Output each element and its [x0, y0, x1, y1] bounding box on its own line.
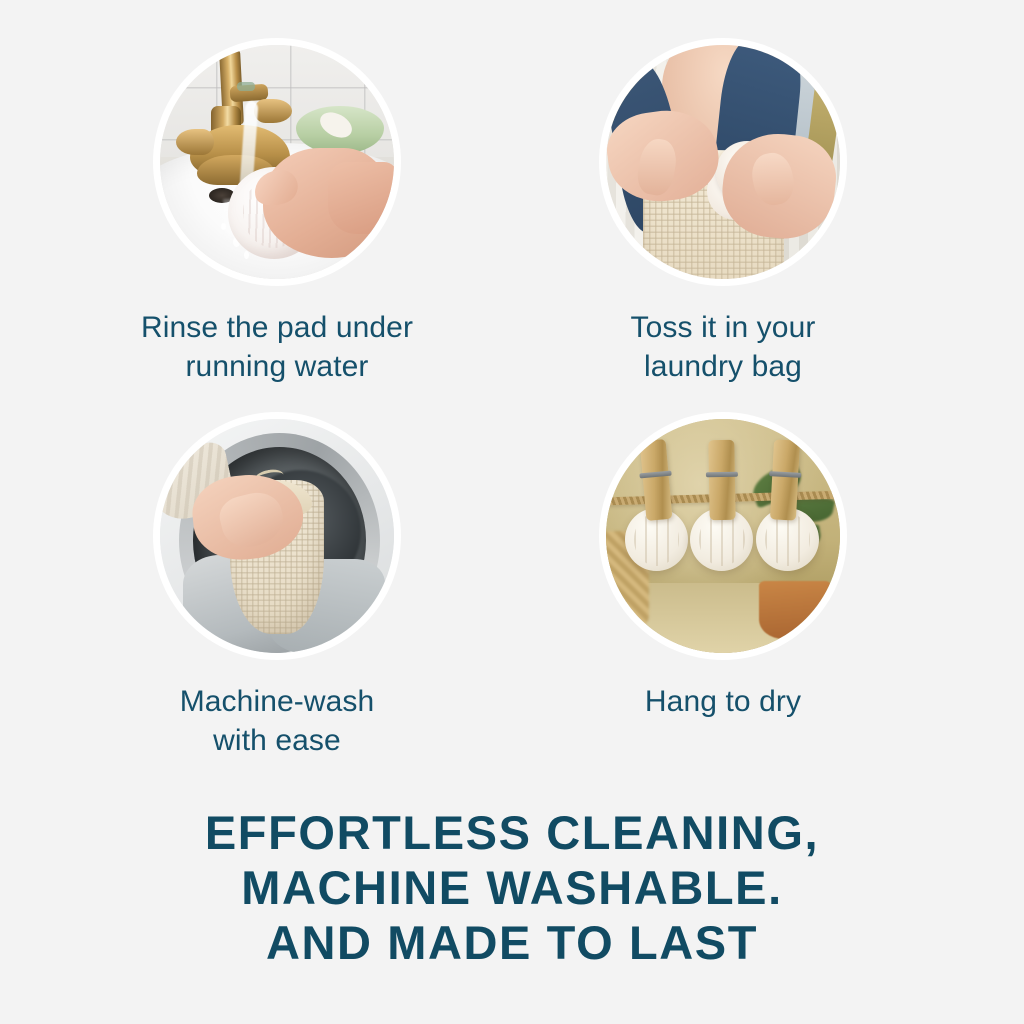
step-card-hang-dry: Hang to dry	[498, 412, 948, 721]
headline-line-2: MACHINE WASHABLE.	[0, 861, 1024, 916]
caption-line-1: Toss it in your	[631, 308, 816, 347]
step-card-toss: Toss it in your laundry bag	[498, 38, 948, 386]
caption-line-1: Hang to dry	[645, 682, 801, 721]
placing-pad-into-mesh-laundry-bag-photo	[606, 45, 840, 279]
caption-line-1: Machine-wash	[180, 682, 375, 721]
step-card-rinse: Rinse the pad under running water	[52, 38, 502, 386]
caption-line-2: running water	[141, 347, 413, 386]
photo-ring-machine-wash	[153, 412, 401, 660]
photo-ring-hang-dry	[599, 412, 847, 660]
step-caption-toss: Toss it in your laundry bag	[631, 308, 816, 386]
pads-hanging-on-clothesline-photo	[606, 419, 840, 653]
infographic-canvas: Rinse the pad under running water	[0, 0, 1024, 1024]
steps-grid: Rinse the pad under running water	[0, 0, 1024, 790]
headline-block: EFFORTLESS CLEANING, MACHINE WASHABLE. A…	[0, 806, 1024, 971]
rinsing-reusable-pad-under-brass-faucet-photo	[160, 45, 394, 279]
step-caption-machine-wash: Machine-wash with ease	[180, 682, 375, 760]
mesh-bag-into-washing-machine-photo	[160, 419, 394, 653]
headline-line-1: EFFORTLESS CLEANING,	[0, 806, 1024, 861]
caption-line-1: Rinse the pad under	[141, 308, 413, 347]
caption-line-2: with ease	[180, 721, 375, 760]
photo-ring-rinse	[153, 38, 401, 286]
step-card-machine-wash: Machine-wash with ease	[52, 412, 502, 760]
caption-line-2: laundry bag	[631, 347, 816, 386]
step-caption-hang-dry: Hang to dry	[645, 682, 801, 721]
step-caption-rinse: Rinse the pad under running water	[141, 308, 413, 386]
photo-ring-toss	[599, 38, 847, 286]
headline-line-3: AND MADE TO LAST	[0, 916, 1024, 971]
